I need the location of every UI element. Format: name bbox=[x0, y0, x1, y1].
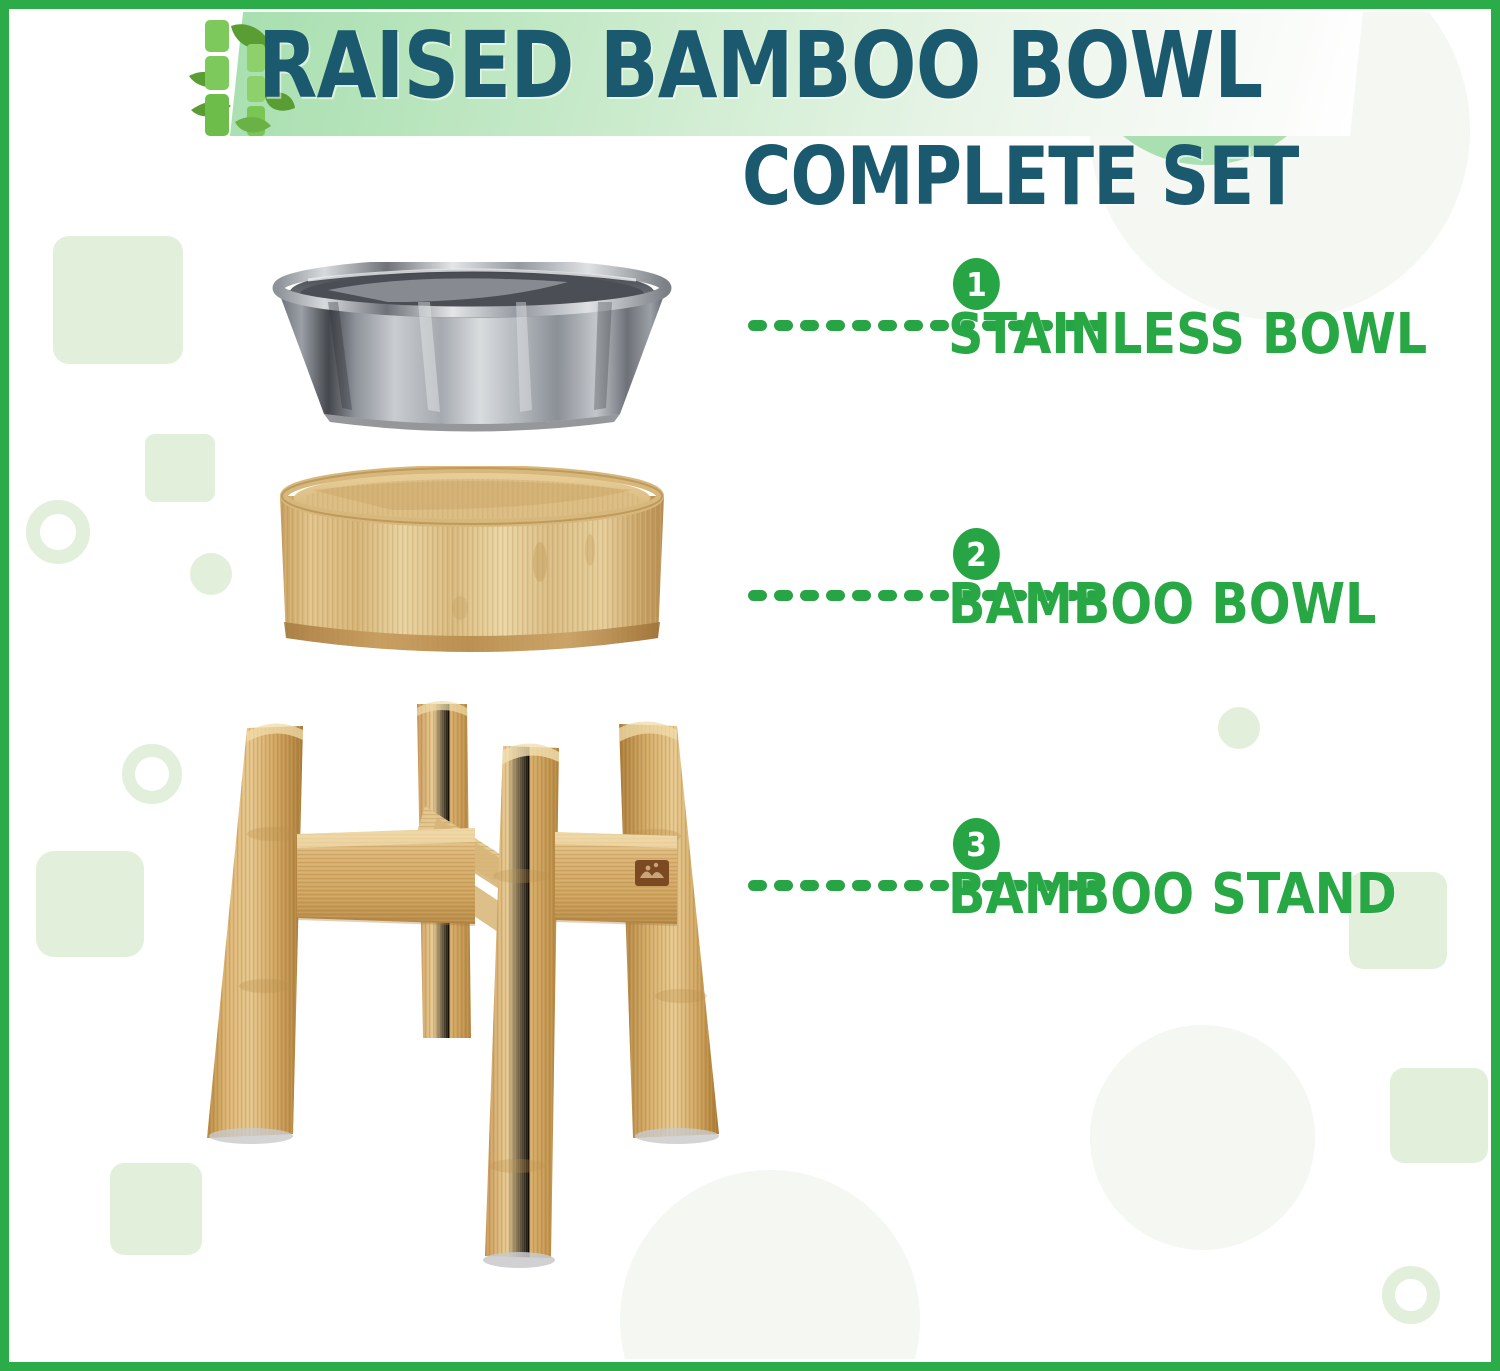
callout-label-2: BAMBOO BOWL bbox=[948, 572, 1376, 638]
callout-1: 1 STAINLESS BOWL bbox=[748, 258, 1368, 378]
callout-3: 3 BAMBOO STAND bbox=[748, 818, 1368, 938]
mint-ring-3 bbox=[1382, 1266, 1440, 1324]
mint-ring-2 bbox=[122, 744, 182, 804]
bamboo-bowl-image bbox=[272, 466, 672, 666]
bamboo-stand-image bbox=[185, 686, 745, 1306]
callout-label-1: STAINLESS BOWL bbox=[948, 302, 1427, 368]
page-title: RAISED BAMBOO BOWL bbox=[258, 14, 1262, 118]
mint-square-6 bbox=[1390, 1068, 1488, 1163]
brand-logo-badge bbox=[635, 860, 669, 886]
mint-square-2 bbox=[145, 434, 215, 502]
mint-circle-1 bbox=[190, 553, 232, 595]
callout-2: 2 BAMBOO BOWL bbox=[748, 528, 1368, 648]
mint-circle-2 bbox=[100, 857, 144, 901]
stainless-steel-bowl-image bbox=[268, 262, 676, 432]
page-subtitle: COMPLETE SET bbox=[742, 132, 1299, 222]
mint-circle-3 bbox=[1218, 707, 1260, 749]
connector-dashes-2 bbox=[748, 590, 936, 601]
mint-square-1 bbox=[53, 236, 183, 364]
connector-dashes-3 bbox=[748, 880, 936, 891]
infographic-canvas: RAISED BAMBOO BOWL COMPLETE SET bbox=[0, 0, 1500, 1371]
callout-label-3: BAMBOO STAND bbox=[948, 862, 1397, 928]
mint-ring-1 bbox=[26, 500, 90, 564]
connector-dashes-1 bbox=[748, 320, 936, 331]
ghost-circle-bottom-right bbox=[1090, 1025, 1315, 1250]
